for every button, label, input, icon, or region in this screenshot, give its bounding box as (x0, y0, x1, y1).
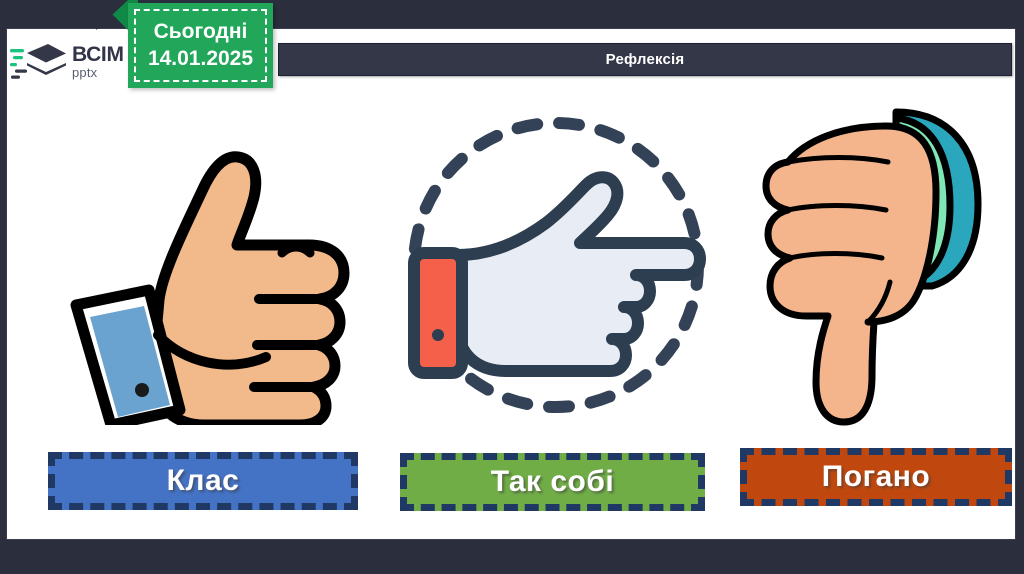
date-badge-label: Сьогодні (154, 21, 248, 43)
page-title: Рефлексія (606, 51, 685, 68)
illustration-thumbs-up (36, 100, 376, 430)
logo-name: ВСІМ (72, 44, 124, 65)
logo-subtitle: pptx (72, 66, 124, 79)
option-button-pohano[interactable]: Погано (740, 448, 1012, 506)
option-button-tak-sobi[interactable]: Так собі (400, 453, 705, 511)
illustration-pointing-hand (391, 100, 721, 430)
date-badge-value: 14.01.2025 (148, 48, 253, 70)
slide-title-bar: Рефлексія (278, 43, 1012, 76)
illustration-thumbs-down (731, 100, 1024, 430)
slide-stage: ВСІМ pptx Сьогодні 14.01.2025 Рефлексія (0, 0, 1024, 574)
thumbs-down-icon (746, 100, 1016, 430)
option-button-klas[interactable]: Клас (48, 452, 358, 510)
brand-logo: ВСІМ pptx (10, 34, 138, 88)
option-label: Погано (822, 460, 931, 494)
option-label: Так собі (491, 465, 615, 499)
illustration-row (6, 100, 1016, 430)
thumbs-up-icon (54, 105, 359, 425)
date-badge: Сьогодні 14.01.2025 (128, 3, 273, 88)
option-label: Клас (167, 464, 240, 498)
pointing-hand-icon (396, 105, 716, 425)
graduation-cap-icon (10, 39, 68, 83)
